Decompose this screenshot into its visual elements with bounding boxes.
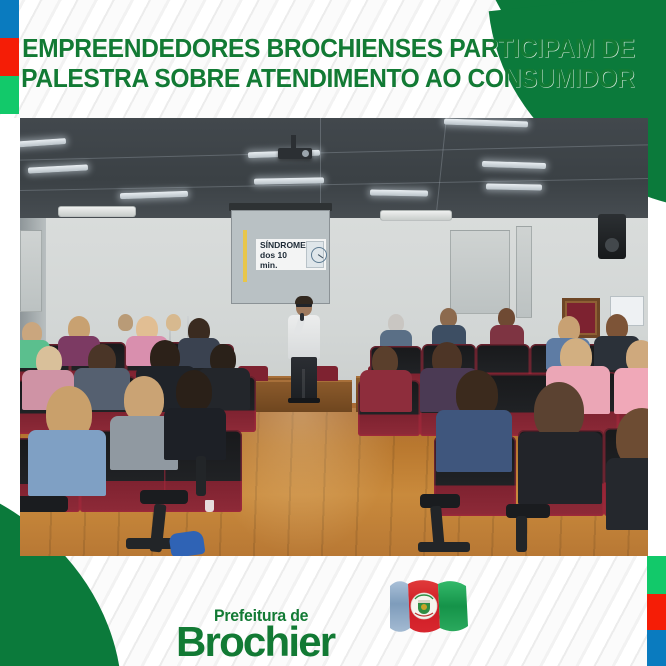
left-color-bar xyxy=(0,0,19,114)
audience-head xyxy=(118,314,133,331)
air-conditioner xyxy=(58,206,136,217)
chair-leg xyxy=(196,456,206,496)
ceiling-light xyxy=(370,189,428,196)
pa-speaker-wall xyxy=(598,214,626,259)
blue-bag xyxy=(168,530,205,556)
color-segment-green xyxy=(647,556,666,594)
color-segment-red xyxy=(0,38,19,76)
title-line-2: PALESTRA SOBRE ATENDIMENTO AO CONSUMIDOR xyxy=(21,64,634,94)
page-title: EMPREENDEDORES BROCHIENSES PARTICIPAM DE… xyxy=(22,26,634,102)
slide-content: SÍNDROME dos 10 min. xyxy=(256,239,326,270)
logo-main-text: Brochier xyxy=(176,620,334,664)
ceiling-light xyxy=(486,184,542,191)
presenter-shoes xyxy=(288,398,320,403)
chair-armrest xyxy=(140,490,188,504)
ceiling-light xyxy=(444,119,528,128)
title-line-1: EMPREENDEDORES BROCHIENSES PARTICIPAM DE xyxy=(22,34,635,64)
presenter xyxy=(281,298,327,403)
chair-leg xyxy=(516,516,527,552)
ceiling-light xyxy=(20,138,66,148)
prefeitura-brochier-logo: Prefeitura de Brochier xyxy=(176,574,496,640)
ceiling-light xyxy=(254,177,324,184)
audience-body xyxy=(436,410,512,472)
stopwatch-icon xyxy=(306,241,324,268)
social-media-poster: EMPREENDEDORES BROCHIENSES PARTICIPAM DE… xyxy=(0,0,666,666)
chair-armrest xyxy=(20,496,68,512)
ceiling-light xyxy=(482,161,546,169)
presenter-trousers xyxy=(291,357,317,401)
chair-leg xyxy=(418,542,470,552)
audience-body xyxy=(606,458,648,530)
right-color-bar xyxy=(647,556,666,666)
glasses-icon xyxy=(296,304,312,307)
chair-armrest xyxy=(506,504,550,518)
slide-text: SÍNDROME dos 10 min. xyxy=(256,240,306,270)
color-segment-blue xyxy=(0,0,19,38)
color-segment-green xyxy=(0,76,19,114)
event-photo: SÍNDROME dos 10 min. xyxy=(20,118,648,556)
audience-body xyxy=(360,370,412,412)
ceiling-projector xyxy=(278,148,312,159)
window-blind xyxy=(516,226,532,318)
slide-accent-bar xyxy=(243,230,247,282)
color-segment-blue xyxy=(647,630,666,666)
slide-line-1: SÍNDROME xyxy=(260,240,306,250)
ceiling-seam xyxy=(20,144,648,160)
air-conditioner xyxy=(380,210,452,221)
ceiling-seam xyxy=(20,178,648,191)
window-blind xyxy=(450,230,510,314)
brochier-flag-icon xyxy=(386,576,478,638)
audience-head xyxy=(176,370,212,412)
window-blind xyxy=(20,230,42,312)
color-segment-red xyxy=(647,594,666,630)
ceiling-light xyxy=(120,191,188,199)
audience-head xyxy=(166,314,181,331)
audience-body xyxy=(164,408,226,460)
projection-screen: SÍNDROME dos 10 min. xyxy=(231,210,330,304)
slide-line-2: dos 10 min. xyxy=(260,250,306,270)
ceiling-light xyxy=(28,164,88,173)
plastic-cup xyxy=(205,500,214,512)
audience-body xyxy=(28,430,106,496)
microphone-icon xyxy=(300,313,304,321)
audience-body xyxy=(518,432,602,504)
